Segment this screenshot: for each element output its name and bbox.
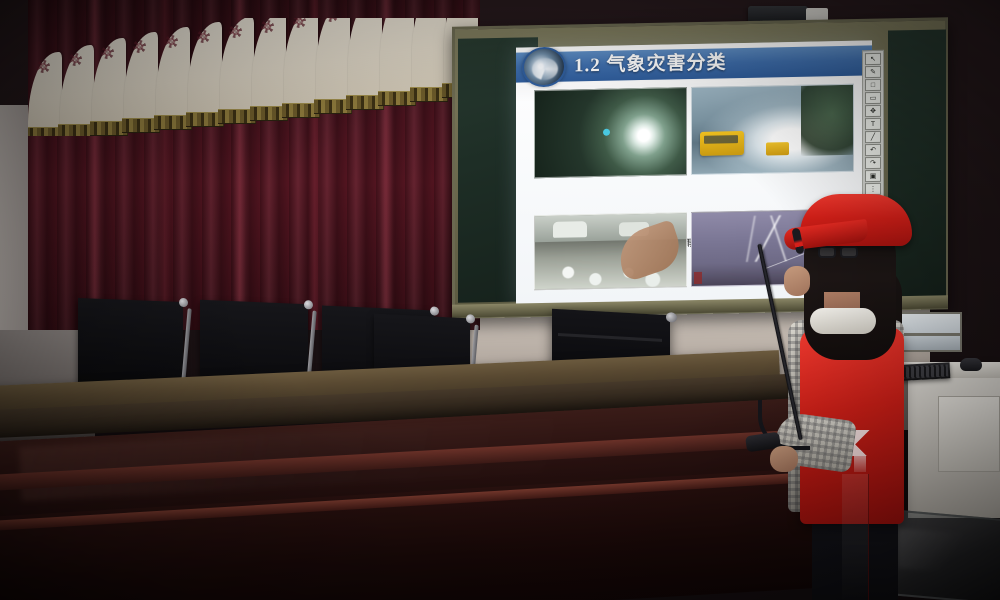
lectern-drawer [938, 396, 1000, 472]
yellow-bus [700, 131, 744, 156]
presenter [760, 188, 920, 600]
volunteer-logo-text [854, 456, 866, 472]
eyeglasses [818, 246, 862, 259]
mouse[interactable] [960, 358, 982, 371]
pointer-tool-icon[interactable]: ↖ [865, 53, 881, 65]
slide-title: 1.2 气象灾害分类 [574, 49, 727, 80]
eraser-tool-icon[interactable]: ▭ [865, 92, 881, 104]
text-tool-icon[interactable]: T [865, 118, 881, 130]
select-tool-icon[interactable]: ✥ [865, 105, 881, 117]
undo-tool-icon[interactable]: ↶ [865, 144, 881, 156]
curtain-valance [28, 18, 480, 136]
vest-opening [842, 474, 869, 600]
roadside-trees [801, 85, 853, 156]
redo-tool-icon[interactable]: ↷ [865, 157, 881, 169]
yellow-taxi [766, 142, 789, 155]
line-tool-icon[interactable]: ╱ [865, 131, 881, 143]
shape-tool-icon[interactable]: □ [865, 79, 881, 91]
photo-marker [694, 272, 702, 284]
classroom-scene: 1.2 气象灾害分类 A. 天气灾害：台风、暴雨、冰雹、大风、雷暴、暴风雪等。 [0, 0, 1000, 600]
urban-flood-photo [691, 84, 854, 175]
pen-tool-icon[interactable]: ✎ [865, 66, 881, 78]
typhoon-satellite-photo [534, 87, 687, 178]
presenter-hand-lower [770, 446, 798, 472]
presenter-hand-upper [784, 266, 810, 296]
hailstones-photo [534, 212, 687, 290]
shirt-collar [810, 308, 876, 334]
save-tool-icon[interactable]: ▣ [865, 170, 881, 182]
